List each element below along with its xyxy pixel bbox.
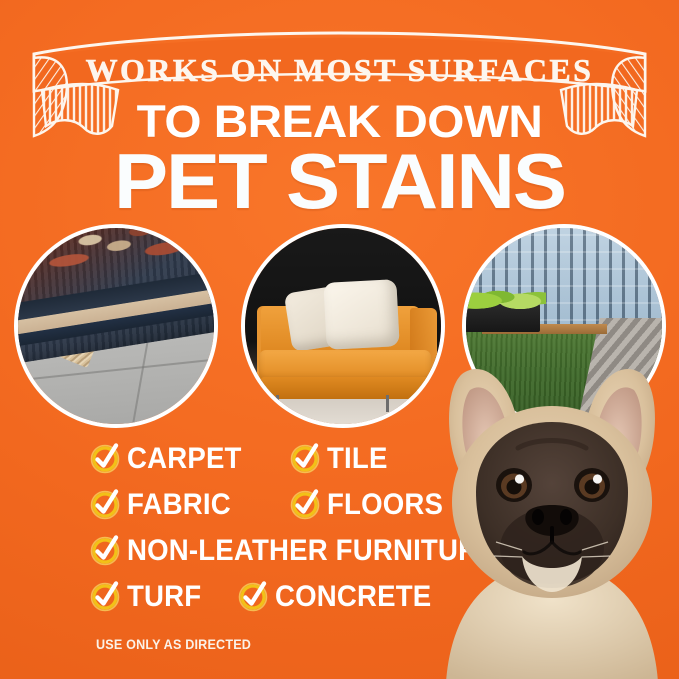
check-badge-icon [292,446,318,472]
checklist-label: TILE [327,444,388,474]
rug-photo [18,228,214,424]
checklist-item-carpet: CARPET [92,444,252,474]
checklist-label: FABRIC [127,490,231,520]
checklist-label: CARPET [127,444,242,474]
ribbon-banner-text: WORKS ON MOST SURFACES [0,52,679,89]
check-badge-icon [92,538,118,564]
check-badge-icon [240,584,266,610]
fine-print-disclaimer: USE ONLY AS DIRECTED [96,636,251,652]
photo-circle-carpet [18,228,214,424]
checklist-item-concrete: CONCRETE [240,582,445,612]
french-bulldog-puppy-photo [418,352,679,679]
checklist-label: TURF [127,582,201,612]
checklist-label: CONCRETE [275,582,431,612]
ad-creative-canvas: WORKS ON MOST SURFACES TO BREAK DOWN PET… [0,0,679,679]
headline-line-3: PET STAINS [0,136,679,227]
check-badge-icon [92,584,118,610]
check-badge-icon [292,492,318,518]
check-badge-icon [92,446,118,472]
checklist-item-tile: TILE [292,444,393,474]
photo-circle-fabric-sofa [245,228,441,424]
checklist-item-fabric: FABRIC [92,490,240,520]
sofa-photo [245,228,441,424]
checklist-item-turf: TURF [92,582,208,612]
check-badge-icon [92,492,118,518]
